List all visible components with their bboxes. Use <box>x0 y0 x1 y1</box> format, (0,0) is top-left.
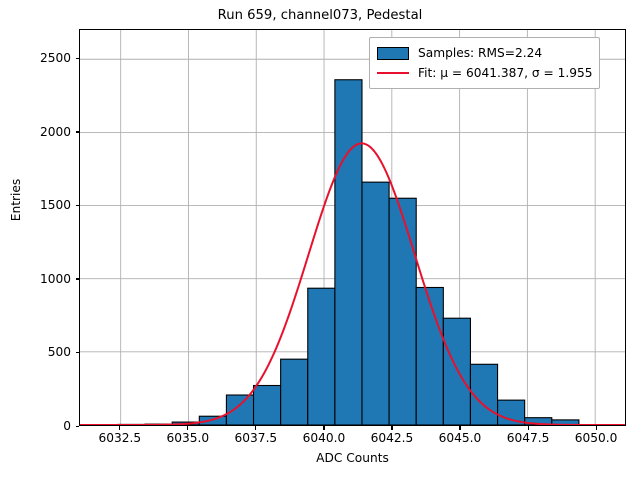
y-tick-mark <box>76 352 80 353</box>
chart-title: Run 659, channel073, Pedestal <box>0 8 640 23</box>
gaussian-fit-curve <box>80 30 625 425</box>
x-axis-label: ADC Counts <box>79 451 626 465</box>
x-tick-label: 6050.0 <box>551 431 640 445</box>
x-axis-ticks: 6032.56035.06037.56040.06042.56045.06047… <box>0 431 640 451</box>
x-tick-mark <box>255 426 256 430</box>
legend-item-fit: Fit: μ = 6041.387, σ = 1.955 <box>377 63 592 83</box>
legend-label-samples: Samples: RMS=2.24 <box>418 46 542 60</box>
x-tick-mark <box>528 426 529 430</box>
y-tick-mark <box>76 205 80 206</box>
y-tick-label: 2500 <box>9 51 71 65</box>
y-tick-mark <box>76 278 80 279</box>
y-tick-label: 500 <box>9 345 71 359</box>
chart-figure: Run 659, channel073, Pedestal 0500100015… <box>0 0 640 480</box>
line-swatch-icon <box>377 67 409 80</box>
x-tick-mark <box>459 426 460 430</box>
x-tick-mark <box>391 426 392 430</box>
x-tick-mark <box>119 426 120 430</box>
y-tick-mark <box>76 58 80 59</box>
x-tick-mark <box>187 426 188 430</box>
y-tick-mark <box>76 131 80 132</box>
y-axis-label: Entries <box>9 100 23 300</box>
y-tick-mark <box>76 426 80 427</box>
bar-swatch-icon <box>377 47 409 60</box>
x-tick-mark <box>323 426 324 430</box>
chart-legend: Samples: RMS=2.24 Fit: μ = 6041.387, σ =… <box>369 37 600 89</box>
legend-label-fit: Fit: μ = 6041.387, σ = 1.955 <box>418 66 592 80</box>
x-tick-mark <box>596 426 597 430</box>
legend-item-samples: Samples: RMS=2.24 <box>377 43 592 63</box>
